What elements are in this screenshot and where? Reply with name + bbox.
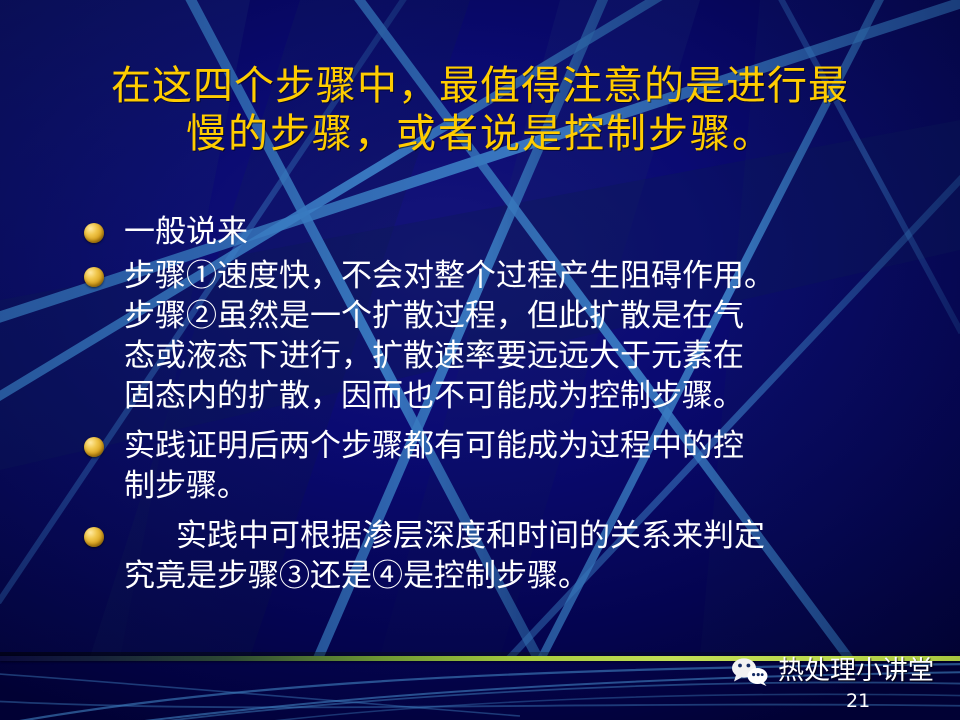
text-line: 实践证明后两个步骤都有可能成为过程中的控 [124,426,918,466]
bullet-sphere-icon [84,267,104,287]
text-line: 态或液态下进行，扩散速率要远远大于元素在 [124,336,918,376]
list-item-text: 一般说来 [124,212,918,252]
text-line: 步骤②虽然是一个扩散过程，但此扩散是在气 [124,296,918,336]
title-line-1: 在这四个步骤中，最值得注意的是进行最 [60,62,900,110]
text-line: 步骤①速度快，不会对整个过程产生阻碍作用。 [124,256,918,296]
text-line: 制步骤。 [124,466,918,506]
list-item-text: 实践中可根据渗层深度和时间的关系来判定 究竟是步骤③还是④是控制步骤。 [124,516,918,596]
wechat-brand: 热处理小讲堂 [730,656,934,686]
text-line: 固态内的扩散，因而也不可能成为控制步骤。 [124,376,918,416]
list-item-text: 步骤①速度快，不会对整个过程产生阻碍作用。 步骤②虽然是一个扩散过程，但此扩散是… [124,256,918,416]
text-line-inner: 实践中可根据渗层深度和时间的关系来判定 [176,518,765,554]
wechat-icon [730,656,770,686]
bullet-sphere-icon [84,527,104,547]
title-line-2: 慢的步骤，或者说是控制步骤。 [60,110,900,158]
text-line: 一般说来 [124,212,918,252]
slide-title: 在这四个步骤中，最值得注意的是进行最 慢的步骤，或者说是控制步骤。 [60,62,900,158]
slide-body-list: 一般说来 步骤①速度快，不会对整个过程产生阻碍作用。 步骤②虽然是一个扩散过程，… [78,212,918,606]
brand-name: 热处理小讲堂 [778,656,934,686]
page-number: 21 [846,690,870,712]
list-item: 一般说来 [78,212,918,252]
slide-canvas: 在这四个步骤中，最值得注意的是进行最 慢的步骤，或者说是控制步骤。 一般说来 步… [0,0,960,720]
bullet-sphere-icon [84,437,104,457]
text-line: 实践中可根据渗层深度和时间的关系来判定 [124,516,918,556]
bullet-sphere-icon [84,223,104,243]
list-item: 步骤①速度快，不会对整个过程产生阻碍作用。 步骤②虽然是一个扩散过程，但此扩散是… [78,256,918,416]
list-item: 实践证明后两个步骤都有可能成为过程中的控 制步骤。 [78,426,918,506]
list-item-text: 实践证明后两个步骤都有可能成为过程中的控 制步骤。 [124,426,918,506]
list-item: 实践中可根据渗层深度和时间的关系来判定 究竟是步骤③还是④是控制步骤。 [78,516,918,596]
text-line: 究竟是步骤③还是④是控制步骤。 [124,556,918,596]
